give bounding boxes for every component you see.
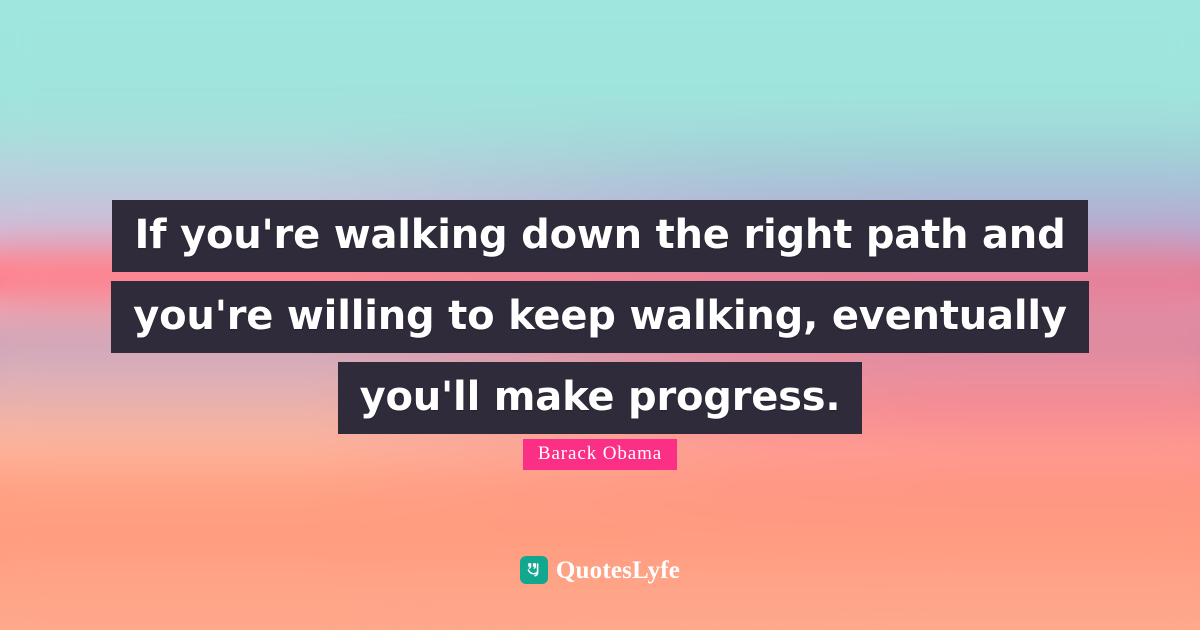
quote-card: If you're walking down the right path an… [0,0,1200,630]
author-badge: Barack Obama [523,439,677,470]
author-attribution: Barack Obama [0,439,1200,470]
quote-text-block: If you're walking down the right path an… [0,200,1200,443]
quote-smiley-icon [520,556,548,584]
site-logo[interactable]: QuotesLyfe [0,556,1200,584]
quote-line-3: you'll make progress. [338,362,863,434]
site-logo-text: QuotesLyfe [556,558,680,583]
quote-line-2: you're willing to keep walking, eventual… [111,281,1088,353]
quote-line-1: If you're walking down the right path an… [112,200,1087,272]
